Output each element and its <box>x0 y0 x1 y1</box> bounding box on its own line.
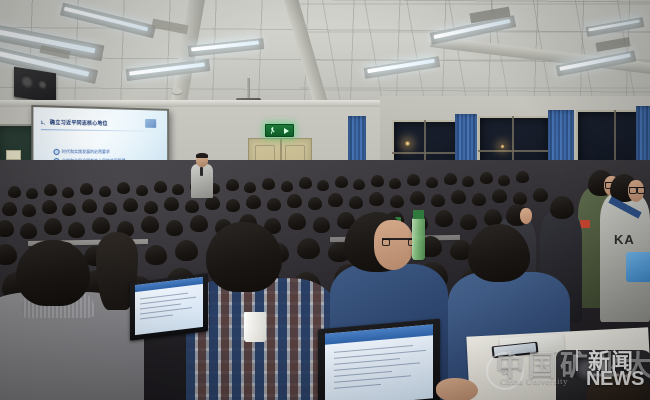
smoke-detector-icon <box>172 88 182 94</box>
audience-head <box>44 218 62 235</box>
slide-number: 1、 <box>41 119 48 125</box>
audience-head <box>80 183 93 195</box>
audience-head <box>371 175 384 187</box>
audience-head <box>407 174 420 186</box>
audience-head <box>246 195 261 209</box>
audience-head <box>267 198 281 211</box>
audience-head <box>451 190 466 204</box>
audience: KA <box>0 160 650 400</box>
jacket-patch <box>580 220 590 228</box>
audience-head <box>281 181 293 192</box>
audience-head <box>20 223 37 239</box>
running-man-icon <box>270 127 275 134</box>
audience-head <box>297 238 320 259</box>
audience-head <box>62 187 74 198</box>
audience-head <box>154 181 167 193</box>
audience-head <box>328 193 343 207</box>
audience-head <box>2 202 17 216</box>
wall-speaker <box>14 67 56 104</box>
window-mullion <box>478 150 548 152</box>
audience-head <box>492 189 507 203</box>
laptop-screen-content <box>325 324 432 400</box>
audience-head <box>123 198 138 212</box>
laptop[interactable] <box>130 273 208 341</box>
audience-head <box>145 245 167 265</box>
hand <box>436 378 478 400</box>
audience-head <box>103 202 117 215</box>
vest-text: KA <box>614 232 635 247</box>
audience-head <box>335 176 348 188</box>
audience-head <box>426 177 438 188</box>
arrow-right-icon <box>284 128 289 134</box>
audience-head <box>185 200 199 213</box>
water-bottle <box>412 218 425 260</box>
audience-head <box>205 196 220 210</box>
window-mullion <box>392 152 458 154</box>
eyeglasses <box>629 187 645 192</box>
foreground-head <box>16 240 90 306</box>
audience-head <box>262 178 275 190</box>
audience-head <box>299 177 312 189</box>
presenter-hair <box>196 153 208 158</box>
audience-head <box>68 222 85 238</box>
audience-head <box>92 217 110 234</box>
audience-head <box>317 180 329 191</box>
audience-head <box>175 240 198 261</box>
audience-head <box>431 194 445 207</box>
standing-student-head <box>550 196 574 219</box>
laptop-screen-content <box>135 277 204 335</box>
audience-head <box>288 213 306 230</box>
eyeglasses <box>382 238 416 249</box>
slide-title: 确立习近平同志核心地位 <box>50 119 108 127</box>
audience-head <box>62 203 76 216</box>
audience-head <box>533 188 548 202</box>
audience-head <box>164 197 179 211</box>
audience-head <box>42 200 57 214</box>
microphone <box>200 167 203 176</box>
audience-head <box>22 204 36 217</box>
audience-head <box>369 192 384 206</box>
speaker-cone <box>20 74 34 90</box>
audience-head <box>44 184 57 196</box>
audience-head <box>472 193 486 206</box>
audience-head <box>513 192 527 205</box>
document-text-line <box>334 384 381 389</box>
slide-title-row: 1、 确立习近平同志核心地位 <box>41 117 161 130</box>
exit-sign <box>265 124 294 137</box>
audience-head <box>144 201 158 214</box>
audience-head <box>172 184 184 195</box>
audience-head <box>460 214 477 230</box>
audience-head <box>390 195 404 208</box>
audience-head <box>99 186 111 197</box>
speaker-cone <box>38 79 47 89</box>
audience-head <box>313 217 330 233</box>
audience-head <box>389 178 401 189</box>
document-text-line <box>334 371 392 377</box>
audience-head <box>462 176 474 187</box>
slide-bullet-text: 时代和实践发展的必然要求 <box>62 148 110 154</box>
night-lamp-outside <box>500 144 505 149</box>
laptop[interactable] <box>318 319 440 400</box>
audience-head <box>26 188 38 199</box>
document-text-line <box>334 375 411 383</box>
slide-bullet: 时代和实践发展的必然要求 <box>53 148 109 154</box>
document-toolbar <box>325 324 432 344</box>
bottle-cap <box>413 210 424 219</box>
audience-head <box>349 196 363 209</box>
foreground-head <box>206 222 282 292</box>
audience-head <box>141 216 159 233</box>
slide-divider <box>41 130 157 133</box>
audience-head <box>435 210 453 227</box>
audience-head <box>244 182 256 193</box>
audience-head <box>117 182 130 194</box>
shoulder-bag <box>626 252 650 282</box>
audience-head <box>444 173 457 185</box>
audience-head <box>287 194 302 208</box>
audience-head <box>410 191 425 205</box>
document-text-line <box>140 315 173 320</box>
lecture-hall-photo: 1、 确立习近平同志核心地位 时代和实践发展的必然要求 全党和全军全国各族人民的… <box>0 0 650 400</box>
slide-logo <box>145 119 156 128</box>
audience-head <box>82 199 97 213</box>
bullet-dot-icon <box>53 148 59 154</box>
projector-mount <box>247 78 250 100</box>
audience-head <box>353 179 365 190</box>
wall-sign <box>6 150 21 160</box>
audience-head <box>166 220 183 236</box>
audience-head <box>308 197 322 210</box>
audience-head <box>226 199 240 212</box>
audience-head <box>8 186 21 198</box>
standing-student-face <box>520 208 532 224</box>
night-lamp-outside <box>404 140 411 147</box>
audience-head <box>516 171 529 183</box>
audience-head <box>480 172 493 184</box>
audience-head <box>190 215 208 232</box>
audience-head <box>226 179 239 191</box>
audience-head <box>498 175 510 186</box>
audience-head <box>136 185 148 196</box>
paper-cup <box>244 312 266 342</box>
